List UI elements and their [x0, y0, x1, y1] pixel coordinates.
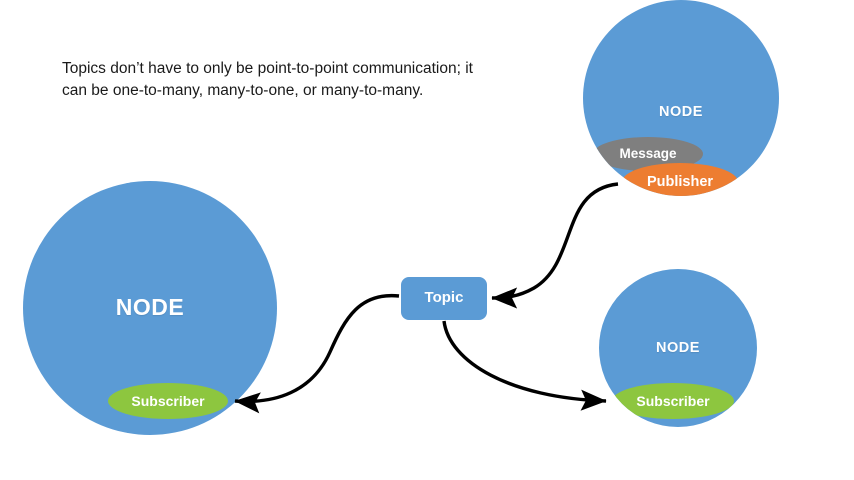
topic-label[interactable]: Topic	[401, 289, 487, 306]
node-label-top-right: NODE	[611, 104, 751, 120]
caption-text: Topics don’t have to only be point-to-po…	[62, 58, 482, 103]
connector-topic-to-subscriber-bottom-right	[444, 321, 606, 401]
message-label: Message	[593, 146, 703, 161]
slide-canvas: Topics don’t have to only be point-to-po…	[0, 0, 854, 480]
node-label-bottom-right: NODE	[608, 340, 748, 356]
node-label-left: NODE	[60, 294, 240, 321]
publisher-label: Publisher	[622, 174, 738, 190]
subscriber-label-bottom-right: Subscriber	[613, 393, 733, 409]
connector-publisher-to-topic	[492, 184, 618, 298]
subscriber-label-left: Subscriber	[108, 393, 228, 409]
